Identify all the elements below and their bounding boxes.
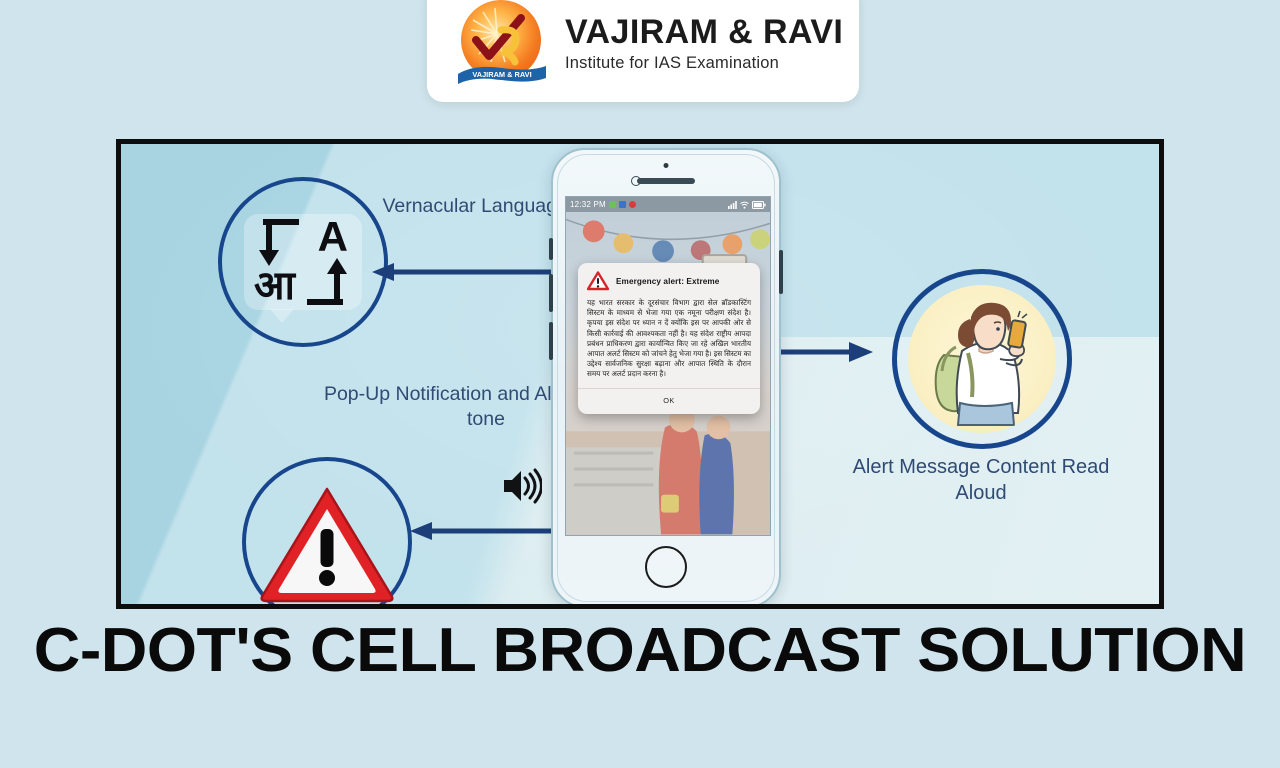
alert-dialog-message: यह भारत सरकार के दूरसंचार विभाग द्वारा स… bbox=[578, 296, 760, 388]
smartphone-mockup: 12:32 PM bbox=[551, 148, 781, 608]
user-listening-badge bbox=[892, 269, 1072, 449]
phone-screen[interactable]: 12:32 PM bbox=[565, 196, 771, 536]
brand-logo-card: VAJIRAM & RAVI VAJIRAM & RAVI Institute … bbox=[427, 0, 859, 102]
phone-home-button[interactable] bbox=[645, 546, 687, 588]
phone-earpiece-speaker bbox=[637, 178, 695, 184]
logo-ribbon-text: VAJIRAM & RAVI bbox=[472, 70, 531, 79]
warning-triangle-icon bbox=[257, 479, 397, 605]
status-bar-right bbox=[728, 201, 766, 209]
alert-dialog-header: Emergency alert: Extreme bbox=[578, 263, 760, 296]
status-bar-clock: 12:32 PM bbox=[570, 200, 606, 209]
emergency-alert-dialog[interactable]: Emergency alert: Extreme यह भारत सरकार क… bbox=[578, 263, 760, 414]
vajiram-ravi-logo-mark: VAJIRAM & RAVI bbox=[457, 0, 549, 90]
speaker-volume-icon bbox=[500, 466, 542, 506]
phone-status-bar: 12:32 PM bbox=[566, 197, 770, 212]
brand-name: VAJIRAM & RAVI bbox=[565, 15, 843, 51]
infographic-panel: A आ bbox=[116, 139, 1164, 609]
brand-subtitle: Institute for IAS Examination bbox=[565, 54, 843, 73]
phone-silent-switch[interactable] bbox=[549, 238, 553, 260]
wifi-icon bbox=[740, 201, 749, 209]
status-bar-left: 12:32 PM bbox=[570, 200, 636, 209]
status-icon-app2 bbox=[619, 201, 626, 208]
label-read-aloud: Alert Message Content Read Aloud bbox=[831, 454, 1131, 506]
phone-volume-down-button[interactable] bbox=[549, 322, 553, 360]
page-title: C-DOT'S CELL BROADCAST SOLUTION bbox=[0, 615, 1280, 686]
phone-power-button[interactable] bbox=[779, 250, 783, 294]
translate-arrows-icon bbox=[244, 214, 362, 310]
person-with-phone-illustration bbox=[908, 285, 1056, 433]
battery-icon bbox=[752, 201, 766, 209]
status-icon-alert bbox=[629, 201, 636, 208]
translate-icon: A आ bbox=[244, 214, 362, 310]
status-icon-app1 bbox=[609, 201, 616, 208]
phone-sensor-dot bbox=[664, 163, 669, 168]
logo-ribbon: VAJIRAM & RAVI bbox=[456, 60, 548, 86]
signal-icon bbox=[728, 201, 737, 209]
arrow-left-vernacular bbox=[368, 260, 560, 284]
arrow-right-readaloud bbox=[779, 340, 875, 364]
phone-volume-up-button[interactable] bbox=[549, 274, 553, 312]
checkmark-r-icon bbox=[471, 14, 527, 66]
alert-ok-button[interactable]: OK bbox=[578, 389, 760, 414]
brand-text-block: VAJIRAM & RAVI Institute for IAS Examina… bbox=[565, 15, 843, 74]
alert-warning-triangle-icon bbox=[587, 271, 609, 291]
alert-dialog-title: Emergency alert: Extreme bbox=[616, 277, 719, 286]
alert-warning-badge bbox=[242, 457, 412, 609]
